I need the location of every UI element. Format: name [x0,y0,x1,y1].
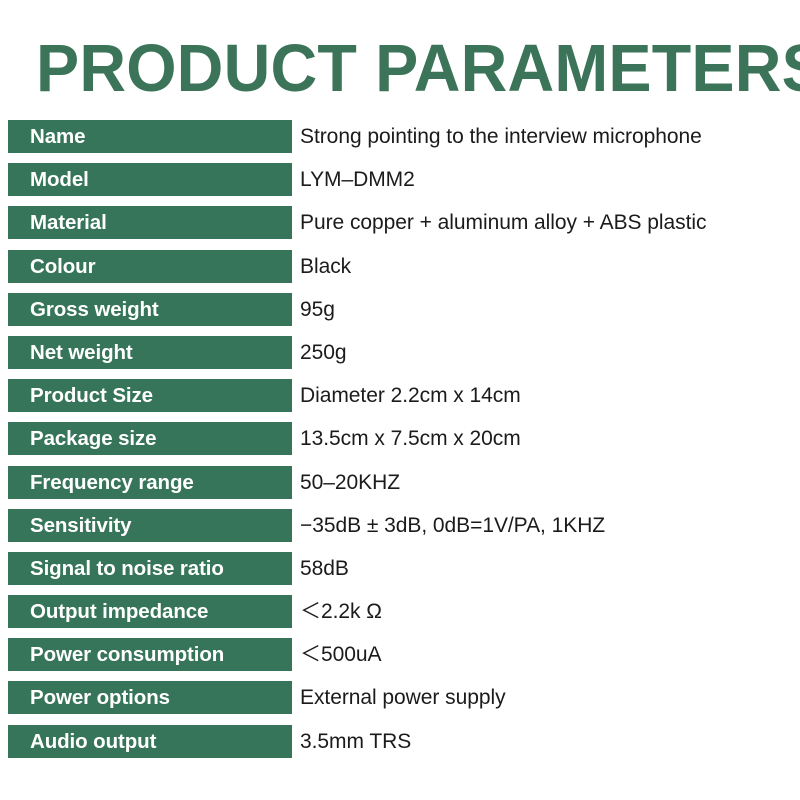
page-title: PRODUCT PARAMETERS [36,34,746,104]
parameter-label: Package size [8,422,292,455]
parameter-value: Pure copper + aluminum alloy + ABS plast… [300,206,706,239]
parameter-value: ＜500uA [300,638,381,671]
parameter-value: 95g [300,293,335,326]
table-row: ModelLYM–DMM2 [0,161,800,204]
parameter-value: −35dB ± 3dB, 0dB=1V/PA, 1KHZ [300,509,605,542]
parameter-value: Diameter 2.2cm x 14cm [300,379,521,412]
parameter-value: 3.5mm TRS [300,725,411,758]
parameter-label: Material [8,206,292,239]
table-row: Power optionsExternal power supply [0,679,800,722]
table-row: Product SizeDiameter 2.2cm x 14cm [0,377,800,420]
parameter-value: 50–20KHZ [300,466,400,499]
parameter-label: Sensitivity [8,509,292,542]
parameter-label: Audio output [8,725,292,758]
parameter-value: 250g [300,336,347,369]
parameter-value: Strong pointing to the interview microph… [300,120,702,153]
table-row: Net weight250g [0,334,800,377]
table-row: NameStrong pointing to the interview mic… [0,118,800,161]
table-row: Package size13.5cm x 7.5cm x 20cm [0,420,800,463]
parameter-value: Black [300,250,351,283]
table-row: MaterialPure copper + aluminum alloy + A… [0,204,800,247]
parameter-value: LYM–DMM2 [300,163,415,196]
parameter-value: External power supply [300,681,506,714]
parameter-label: Power consumption [8,638,292,671]
table-row: Gross weight95g [0,291,800,334]
table-row: Audio output3.5mm TRS [0,723,800,766]
parameter-label: Product Size [8,379,292,412]
parameter-value: ＜2.2k Ω [300,595,382,628]
parameter-value: 13.5cm x 7.5cm x 20cm [300,422,521,455]
parameter-label: Model [8,163,292,196]
parameter-label: Output impedance [8,595,292,628]
table-row: Frequency range50–20KHZ [0,464,800,507]
table-row: Power consumption＜500uA [0,636,800,679]
table-row: ColourBlack [0,248,800,291]
parameters-table: NameStrong pointing to the interview mic… [0,118,800,766]
parameter-label: Gross weight [8,293,292,326]
table-row: Signal to noise ratio58dB [0,550,800,593]
parameter-value: 58dB [300,552,349,585]
parameter-label: Signal to noise ratio [8,552,292,585]
parameter-label: Frequency range [8,466,292,499]
parameter-label: Name [8,120,292,153]
parameter-label: Power options [8,681,292,714]
parameter-label: Net weight [8,336,292,369]
table-row: Sensitivity−35dB ± 3dB, 0dB=1V/PA, 1KHZ [0,507,800,550]
product-parameters-sheet: PRODUCT PARAMETERS NameStrong pointing t… [0,0,800,800]
table-row: Output impedance＜2.2k Ω [0,593,800,636]
parameter-label: Colour [8,250,292,283]
